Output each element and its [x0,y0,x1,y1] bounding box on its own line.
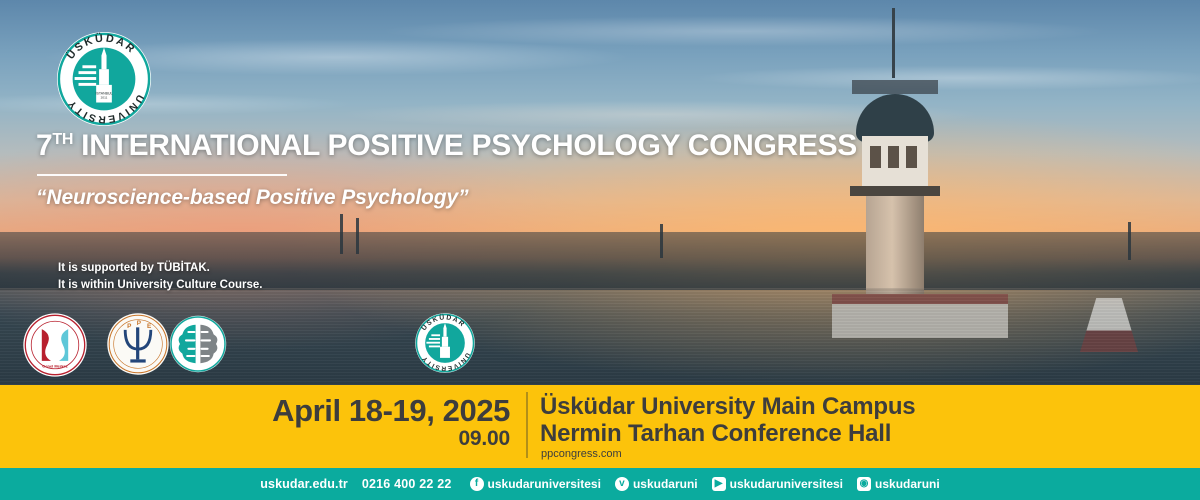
instagram-icon: ◉ [857,477,871,491]
tower-window [888,146,899,168]
event-date: April 18-19, 2025 [0,393,510,429]
social-facebook[interactable]: f uskudaruniversitesi [470,477,601,491]
youtube-icon: ▶ [712,477,726,491]
title-rest: INTERNATIONAL POSITIVE PSYCHOLOGY CONGRE… [73,129,857,162]
tower-window [870,146,881,168]
congress-banner: ÜSKÜDAR UNIVERSITY İSTANBUL 2011 7TH INT… [0,0,1200,500]
university-website-link[interactable]: uskudar.edu.tr [260,477,348,491]
support-line-1: It is supported by TÜBİTAK. [58,260,262,277]
minaret-silhouette [356,218,359,254]
brain-logo [168,314,228,379]
svg-text:2011: 2011 [101,96,108,100]
svg-text:E: E [147,323,151,330]
sponsor-logo-strip: Genel Merkez P P E [0,303,1200,385]
tower-window [906,146,917,168]
svg-text:P: P [137,320,142,327]
venue-line-2: Nermin Tarhan Conference Hall [540,420,891,448]
minaret-silhouette [340,214,343,254]
instagram-handle: uskudaruni [875,477,940,491]
youtube-handle: uskudaruniversitesi [730,477,843,491]
info-bar-divider [526,392,528,458]
contact-footer: uskudar.edu.tr 0216 400 22 22 f uskudaru… [0,468,1200,500]
support-note: It is supported by TÜBİTAK. It is within… [58,260,262,293]
congress-title: 7TH INTERNATIONAL POSITIVE PSYCHOLOGY CO… [36,130,796,162]
facebook-handle: uskudaruniversitesi [488,477,601,491]
minaret-silhouette [1128,222,1131,260]
pozitif-psikoloji-dernegi-logo: P P E [106,312,170,381]
headline-block: 7TH INTERNATIONAL POSITIVE PSYCHOLOGY CO… [36,130,796,210]
tower-mast [892,8,895,78]
phone-number: 0216 400 22 22 [362,477,452,491]
title-ordinal-suffix: TH [52,131,73,148]
social-twitter[interactable]: ᴠ uskudaruni [615,477,698,491]
tower-dome [856,94,934,142]
info-bar: April 18-19, 2025 09.00 Üsküdar Universi… [0,385,1200,468]
facebook-icon: f [470,477,484,491]
svg-text:Genel Merkez: Genel Merkez [42,363,68,368]
support-line-2: It is within University Culture Course. [58,277,262,294]
social-youtube[interactable]: ▶ uskudaruniversitesi [712,477,843,491]
uskudar-university-emblem: ÜSKÜDAR UNIVERSITY İSTANBUL 2011 [55,30,153,128]
title-divider-rule [37,174,287,176]
turk-pdr-dernegi-logo: Genel Merkez [22,312,88,383]
tower-balcony [850,186,940,196]
twitter-icon: ᴠ [615,477,629,491]
congress-website[interactable]: ppcongress.com [541,448,622,460]
congress-subtitle: “Neuroscience-based Positive Psychology” [36,186,796,210]
minaret-silhouette [660,224,663,258]
twitter-handle: uskudaruni [633,477,698,491]
tower-gallery [852,80,938,94]
venue-line-1: Üsküdar University Main Campus [540,393,915,421]
social-instagram[interactable]: ◉ uskudaruni [857,477,940,491]
uskudar-university-emblem-small: ÜSKÜDAR UNIVERSITY [414,312,476,379]
event-time: 09.00 [0,427,510,451]
title-ordinal: 7 [36,129,52,162]
svg-text:P: P [127,323,132,330]
